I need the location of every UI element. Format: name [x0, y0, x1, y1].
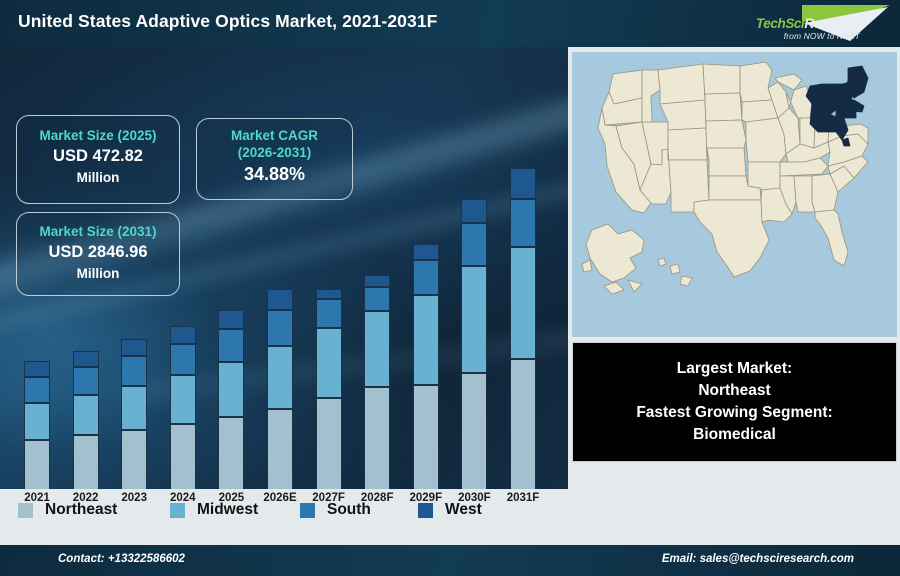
- bar-segment-northeast: [461, 373, 487, 489]
- bar-segment-west: [170, 326, 196, 344]
- bar-segment-west: [316, 289, 342, 299]
- bar-segment-south: [267, 310, 293, 346]
- bar-2024: [170, 326, 196, 489]
- page-title: United States Adaptive Optics Market, 20…: [18, 11, 437, 32]
- legend-label: Northeast: [45, 501, 117, 519]
- bar-segment-west: [24, 361, 50, 377]
- legend-item-south[interactable]: South: [300, 501, 371, 519]
- bar-segment-northeast: [510, 359, 536, 489]
- bar-2022: [73, 351, 99, 489]
- bar-segment-south: [510, 199, 536, 247]
- bar-segment-midwest: [267, 346, 293, 409]
- logo-word-techsci: TechSci: [756, 16, 804, 31]
- legend-swatch-west: [418, 503, 433, 518]
- footer-bar: Contact: +13322586602 Email: sales@techs…: [0, 545, 900, 576]
- bar-2031F: [510, 168, 536, 489]
- bar-segment-west: [218, 310, 244, 329]
- bar-segment-west: [73, 351, 99, 367]
- bar-segment-west: [121, 339, 147, 356]
- us-map: [572, 52, 897, 337]
- us-map-panel: [572, 52, 897, 337]
- bar-segment-midwest: [170, 375, 196, 424]
- logo-word-research: Research: [804, 16, 862, 31]
- bar-segment-west: [364, 275, 390, 287]
- bar-segment-south: [170, 344, 196, 375]
- fastest-segment-label: Fastest Growing Segment:: [636, 402, 832, 424]
- bar-segment-northeast: [73, 435, 99, 489]
- techsci-research-logo[interactable]: TechSciResearch from NOW to NEXT: [718, 1, 896, 45]
- bar-segment-south: [413, 260, 439, 295]
- bar-2021: [24, 361, 50, 489]
- bar-segment-northeast: [267, 409, 293, 489]
- logo-tagline: from NOW to NEXT: [784, 31, 860, 41]
- bar-segment-midwest: [413, 295, 439, 385]
- logo-wordmark: TechSciResearch: [756, 16, 862, 31]
- bar-segment-west: [510, 168, 536, 199]
- bar-segment-midwest: [73, 395, 99, 435]
- bar-segment-midwest: [461, 266, 487, 373]
- bar-2027F: [316, 289, 342, 489]
- legend-label: Midwest: [197, 501, 258, 519]
- chart-legend: NortheastMidwestSouthWest: [0, 494, 568, 534]
- largest-market-label: Largest Market:: [677, 358, 792, 380]
- bar-2030F: [461, 199, 487, 489]
- bar-segment-northeast: [413, 385, 439, 489]
- bar-2025: [218, 310, 244, 489]
- header-bar: United States Adaptive Optics Market, 20…: [0, 0, 900, 47]
- largest-market-value: Northeast: [698, 380, 770, 402]
- bar-segment-northeast: [121, 430, 147, 489]
- bar-segment-south: [121, 356, 147, 386]
- bar-segment-south: [461, 223, 487, 266]
- legend-item-west[interactable]: West: [418, 501, 482, 519]
- bar-segment-midwest: [218, 362, 244, 417]
- bar-segment-south: [24, 377, 50, 403]
- bar-2029F: [413, 244, 439, 489]
- legend-swatch-south: [300, 503, 315, 518]
- bar-segment-south: [73, 367, 99, 395]
- bar-segment-west: [461, 199, 487, 223]
- bar-segment-midwest: [316, 328, 342, 398]
- legend-item-midwest[interactable]: Midwest: [170, 501, 258, 519]
- bar-segment-midwest: [364, 311, 390, 387]
- legend-label: West: [445, 501, 482, 519]
- bar-segment-northeast: [170, 424, 196, 489]
- fastest-segment-value: Biomedical: [693, 424, 776, 446]
- footer-contact: Contact: +13322586602: [58, 553, 185, 565]
- legend-item-northeast[interactable]: Northeast: [18, 501, 117, 519]
- bar-segment-west: [413, 244, 439, 260]
- bar-segment-midwest: [510, 247, 536, 359]
- key-findings-box: Largest Market: Northeast Fastest Growin…: [572, 342, 897, 462]
- bar-segment-west: [267, 289, 293, 310]
- stacked-bar-plot: [0, 47, 568, 489]
- bar-segment-midwest: [24, 403, 50, 440]
- bar-segment-south: [218, 329, 244, 362]
- bar-2026E: [267, 289, 293, 489]
- legend-label: South: [327, 501, 371, 519]
- bar-segment-northeast: [364, 387, 390, 489]
- chart-panel: Market Size (2025) USD 472.82 Million Ma…: [0, 47, 568, 489]
- bar-segment-south: [316, 299, 342, 328]
- bar-segment-midwest: [121, 386, 147, 430]
- bar-segment-northeast: [218, 417, 244, 489]
- bar-segment-northeast: [24, 440, 50, 489]
- legend-swatch-midwest: [170, 503, 185, 518]
- bar-segment-south: [364, 287, 390, 311]
- bar-segment-northeast: [316, 398, 342, 489]
- legend-swatch-northeast: [18, 503, 33, 518]
- bar-2023: [121, 339, 147, 489]
- bar-2028F: [364, 275, 390, 489]
- footer-email[interactable]: Email: sales@techsciresearch.com: [662, 553, 854, 565]
